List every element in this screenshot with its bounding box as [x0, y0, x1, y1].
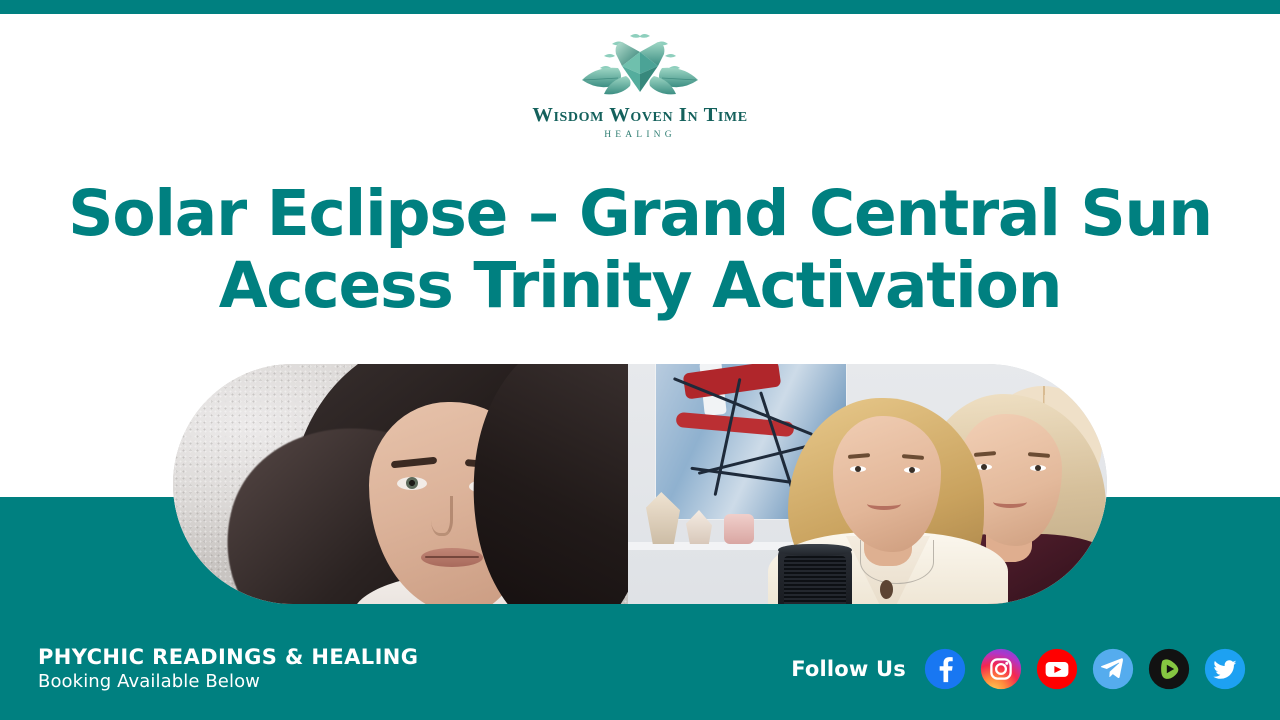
title-line-2: Access Trinity Activation — [0, 250, 1280, 322]
brand-name: Wisdom Woven In Time — [532, 105, 747, 126]
twitter-icon[interactable] — [1204, 648, 1246, 690]
brand-logo[interactable]: Wisdom Woven In Time Healing — [0, 22, 1280, 140]
follow-us-label: Follow Us — [791, 657, 906, 681]
services-title: PHYCHIC READINGS & HEALING — [38, 645, 418, 669]
follow-us-group: Follow Us — [791, 648, 1246, 690]
heart-leaves-birds-logo-icon — [560, 22, 720, 102]
instagram-icon[interactable] — [980, 648, 1022, 690]
services-subtitle: Booking Available Below — [38, 672, 418, 693]
services-block: PHYCHIC READINGS & HEALING Booking Avail… — [38, 645, 418, 693]
photo-guests-interview — [628, 364, 1107, 604]
photo-host-portrait — [173, 364, 628, 604]
rumble-icon[interactable] — [1148, 648, 1190, 690]
youtube-icon[interactable] — [1036, 648, 1078, 690]
facebook-icon[interactable] — [924, 648, 966, 690]
top-accent-bar — [0, 0, 1280, 14]
title-line-1: Solar Eclipse – Grand Central Sun — [68, 177, 1212, 250]
telegram-icon[interactable] — [1092, 648, 1134, 690]
brand-tagline: Healing — [604, 131, 676, 141]
promo-banner: Wisdom Woven In Time Healing Solar Eclip… — [0, 0, 1280, 720]
photo-band — [173, 364, 1107, 604]
page-title: Solar Eclipse – Grand Central Sun Access… — [0, 178, 1280, 322]
